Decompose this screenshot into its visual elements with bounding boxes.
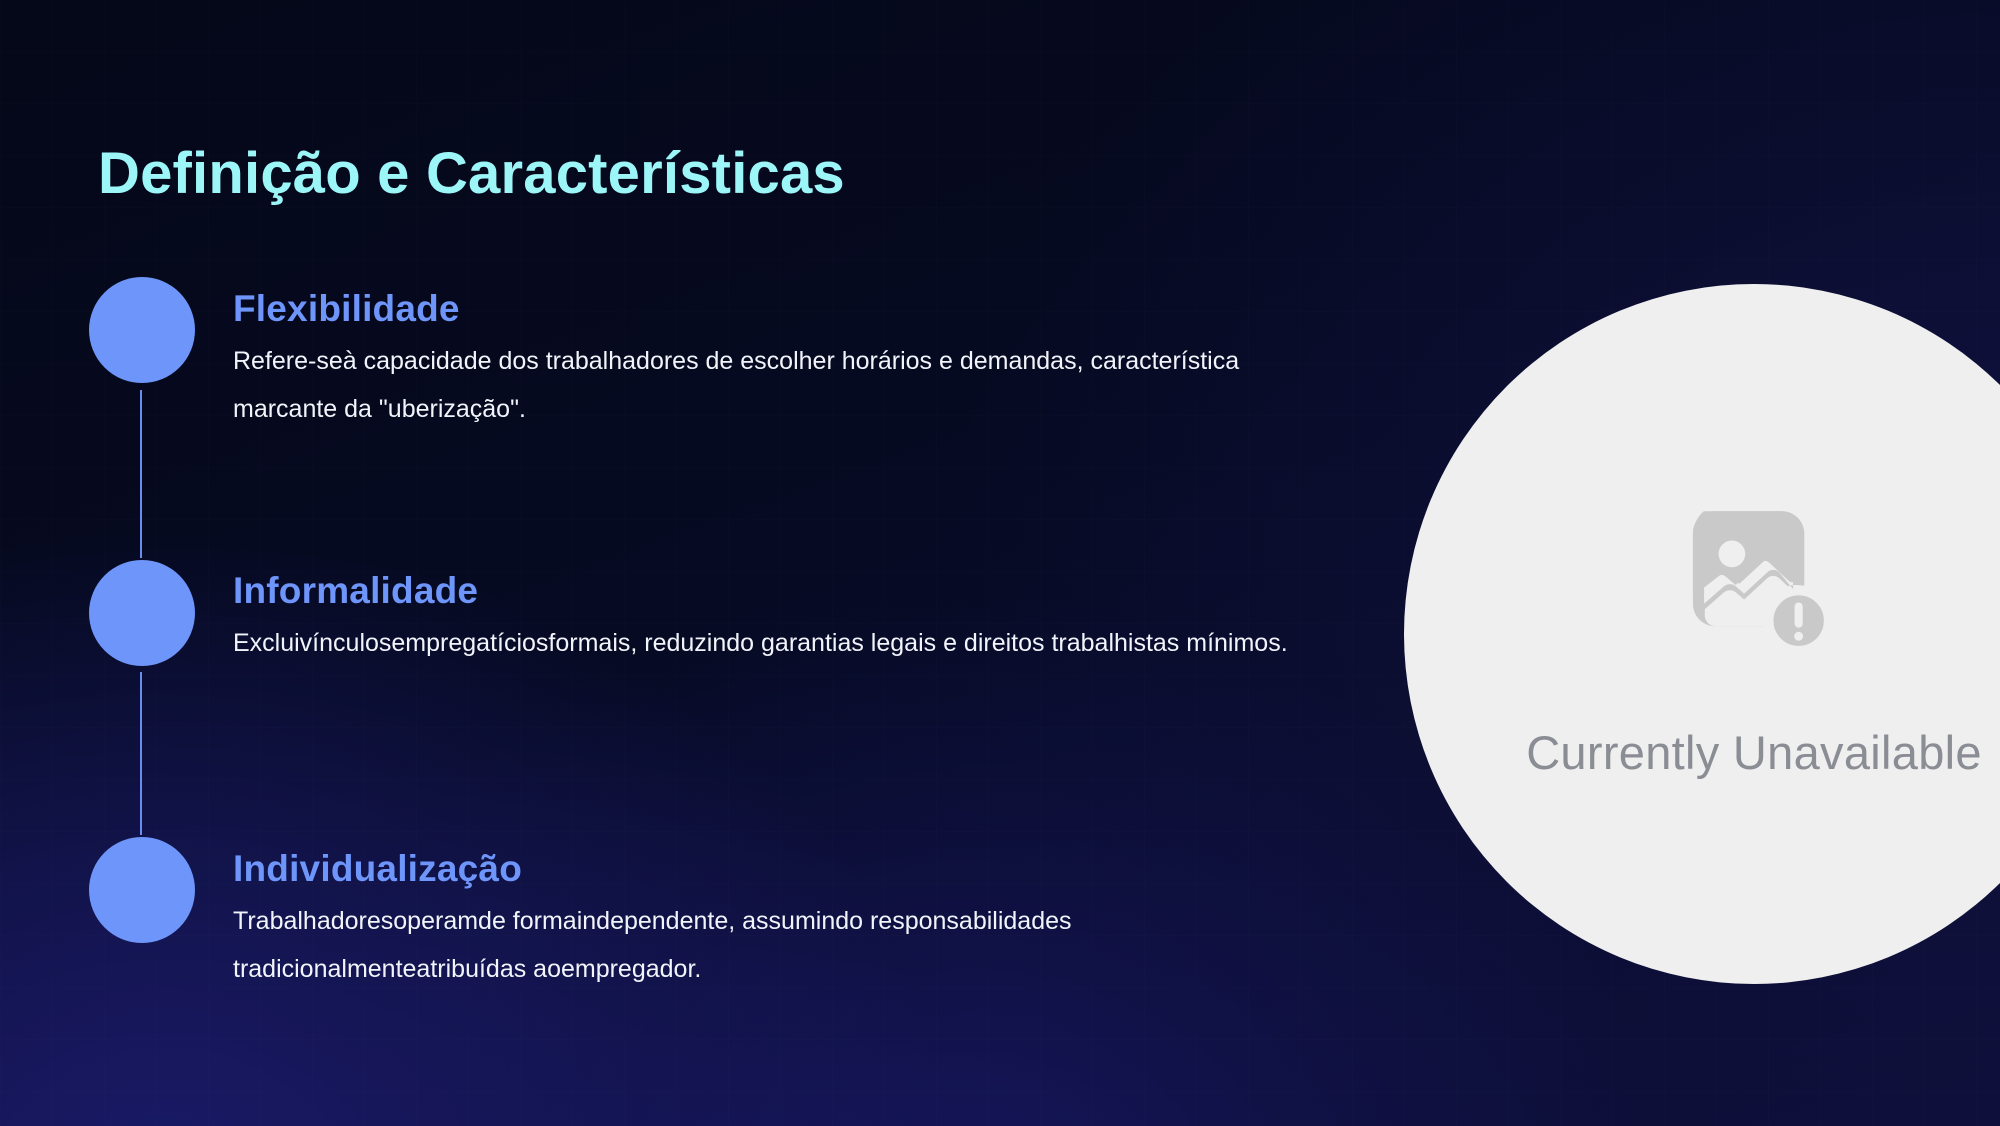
- timeline-item-body: Trabalhadoresoperamde formaindependente,…: [233, 897, 1328, 993]
- image-placeholder-content: Currently Unavailable: [1404, 284, 2000, 984]
- timeline-item-heading: Flexibilidade: [233, 287, 1333, 331]
- timeline-connector-2: [140, 672, 142, 835]
- timeline-item-heading: Informalidade: [233, 569, 1333, 613]
- broken-image-icon: [1667, 489, 1845, 667]
- timeline-item-body: Excluivínculosempregatíciosformais, redu…: [233, 619, 1328, 667]
- timeline-item-informalidade: Informalidade Excluivínculosempregatício…: [233, 569, 1333, 667]
- image-placeholder-label: Currently Unavailable: [1526, 725, 1982, 780]
- slide-root: Definição e Características Flexibilidad…: [0, 0, 2000, 1126]
- timeline-item-individualizacao: Individualização Trabalhadoresoperamde f…: [233, 847, 1333, 993]
- timeline-dot-1: [89, 277, 195, 383]
- timeline-connector-1: [140, 390, 142, 558]
- timeline-item-body: Refere-seà capacidade dos trabalhadores …: [233, 337, 1328, 433]
- timeline-item-heading: Individualização: [233, 847, 1333, 891]
- timeline-dot-2: [89, 560, 195, 666]
- image-placeholder: Currently Unavailable: [1404, 284, 2000, 984]
- timeline: Flexibilidade Refere-seà capacidade dos …: [0, 0, 1400, 1126]
- timeline-dot-3: [89, 837, 195, 943]
- timeline-item-flexibilidade: Flexibilidade Refere-seà capacidade dos …: [233, 287, 1333, 433]
